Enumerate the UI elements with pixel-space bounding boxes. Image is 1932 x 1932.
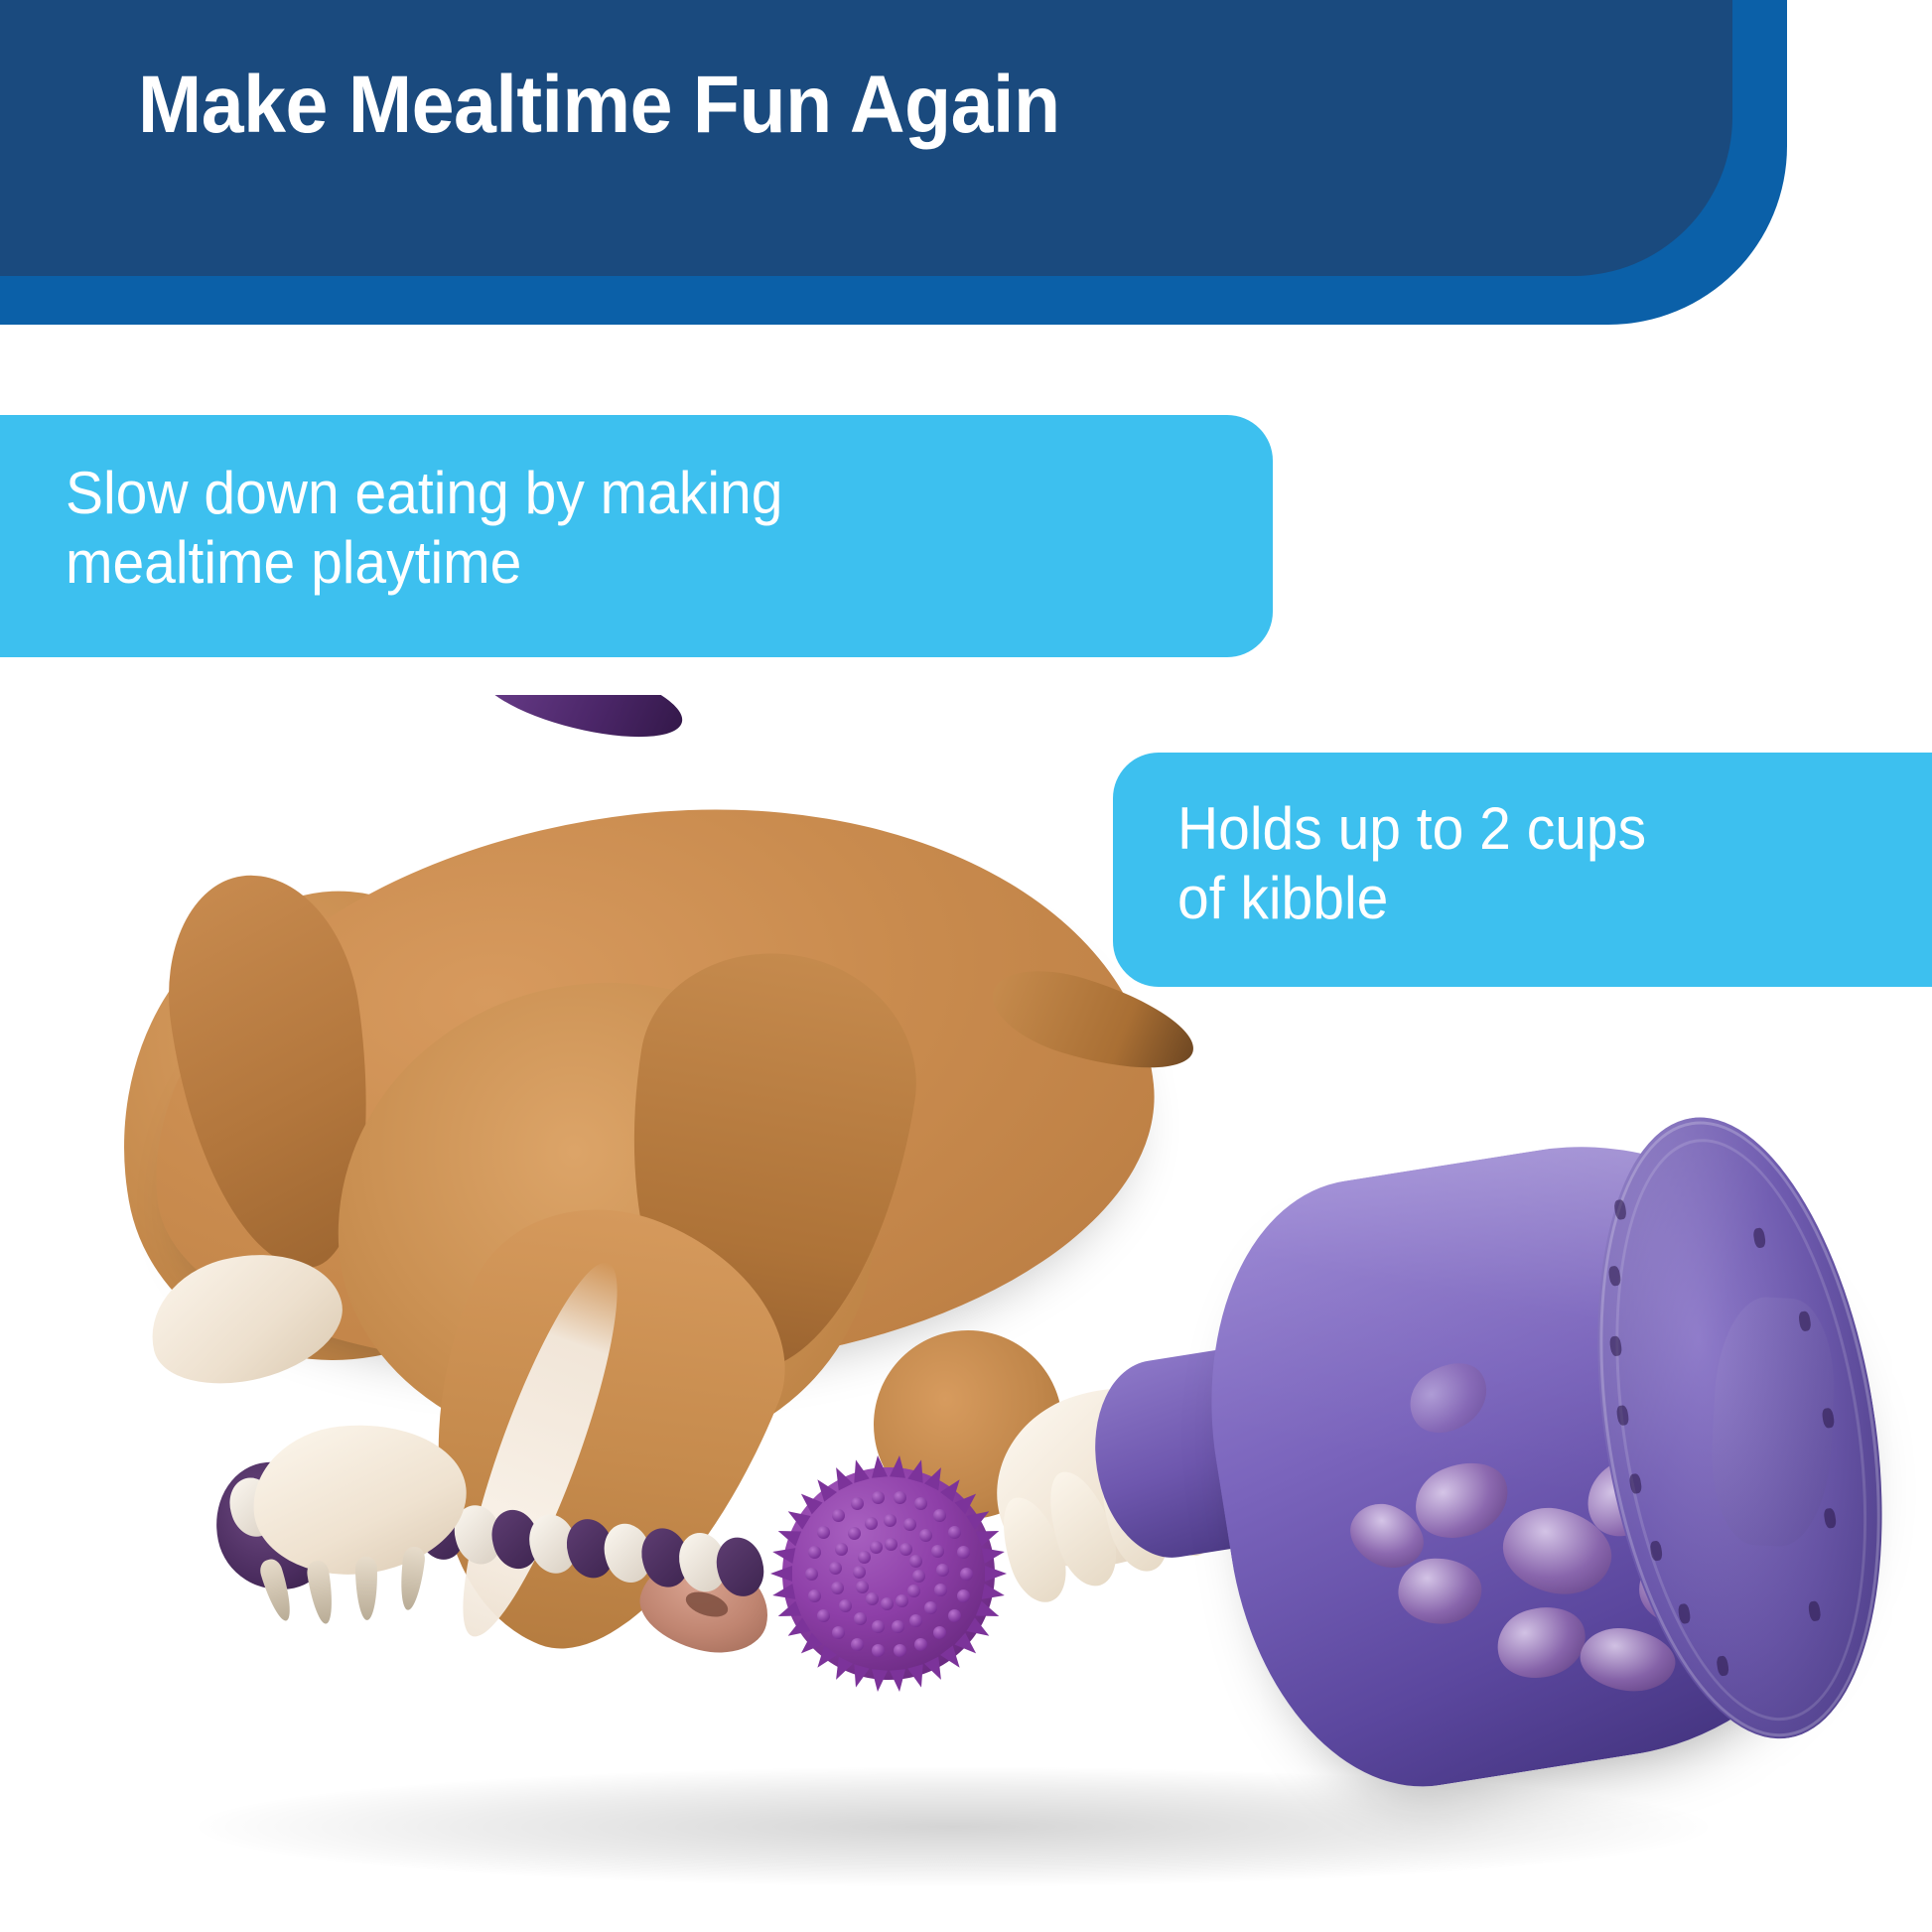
spiky-ball-nub	[907, 1585, 920, 1597]
spiky-ball-nub	[854, 1612, 867, 1625]
spiky-ball-nub	[957, 1546, 970, 1559]
spiky-ball-nub	[909, 1614, 922, 1627]
spiky-ball-nub	[872, 1620, 885, 1633]
spiky-ball-nub	[851, 1497, 864, 1510]
spiky-ball-nub	[894, 1491, 906, 1504]
callout-slow-down-eating: Slow down eating by making mealtime play…	[0, 415, 1273, 657]
callout-left-line-1: Slow down eating by making	[66, 459, 1156, 528]
spiky-ball-spike	[771, 1544, 796, 1564]
spiky-ball-spike	[982, 1544, 1007, 1564]
spiky-ball-nub	[909, 1555, 922, 1568]
callout-left-line-2: mealtime playtime	[66, 528, 1156, 598]
spiky-ball-spike	[870, 1669, 888, 1692]
spiky-ball-nub	[835, 1543, 848, 1556]
spiky-ball-spike	[770, 1566, 792, 1582]
spiky-ball-toy	[764, 1449, 1013, 1698]
header-banner: Make Mealtime Fun Again	[0, 0, 1932, 328]
spiky-ball-spike	[890, 1669, 907, 1692]
spiky-ball-nub	[903, 1518, 916, 1531]
spiky-ball-nub	[933, 1626, 946, 1639]
spiky-ball-nub	[872, 1491, 885, 1504]
spiky-ball-nub	[948, 1526, 961, 1539]
spiky-ball-nub	[948, 1609, 961, 1622]
spiky-ball-nub	[934, 1584, 947, 1596]
spiky-ball-nub	[832, 1626, 845, 1639]
spiky-ball-nub	[957, 1589, 970, 1602]
spiky-ball-nub	[870, 1541, 883, 1554]
dog-collar	[472, 695, 689, 753]
spiky-ball-nub	[931, 1545, 944, 1558]
product-photo	[0, 695, 1932, 1932]
spiky-ball-nub	[881, 1597, 894, 1610]
spiky-ball-nub	[851, 1638, 864, 1651]
spiky-ball-nub	[896, 1594, 908, 1607]
spiky-ball-nub	[865, 1517, 878, 1530]
spiky-ball-nub	[848, 1527, 861, 1540]
spiky-ball-nub	[839, 1599, 852, 1612]
spiky-ball-spike	[985, 1566, 1007, 1582]
spiky-ball-nub	[866, 1592, 879, 1605]
page-title: Make Mealtime Fun Again	[138, 63, 1060, 148]
spiky-ball-nub	[856, 1581, 869, 1593]
spiky-ball-nub	[805, 1568, 818, 1581]
spiky-ball-nub	[960, 1568, 973, 1581]
spiky-ball-nub	[924, 1601, 937, 1614]
spiky-ball-spike	[890, 1455, 907, 1478]
spiky-ball-nub	[892, 1620, 904, 1633]
spiky-ball-nub	[831, 1582, 844, 1594]
spiky-ball-nub	[832, 1509, 845, 1522]
kibble-dispenser-bottle	[1051, 1053, 1932, 1885]
spiky-ball-spike	[870, 1455, 888, 1478]
spiky-ball-nub	[853, 1566, 866, 1579]
